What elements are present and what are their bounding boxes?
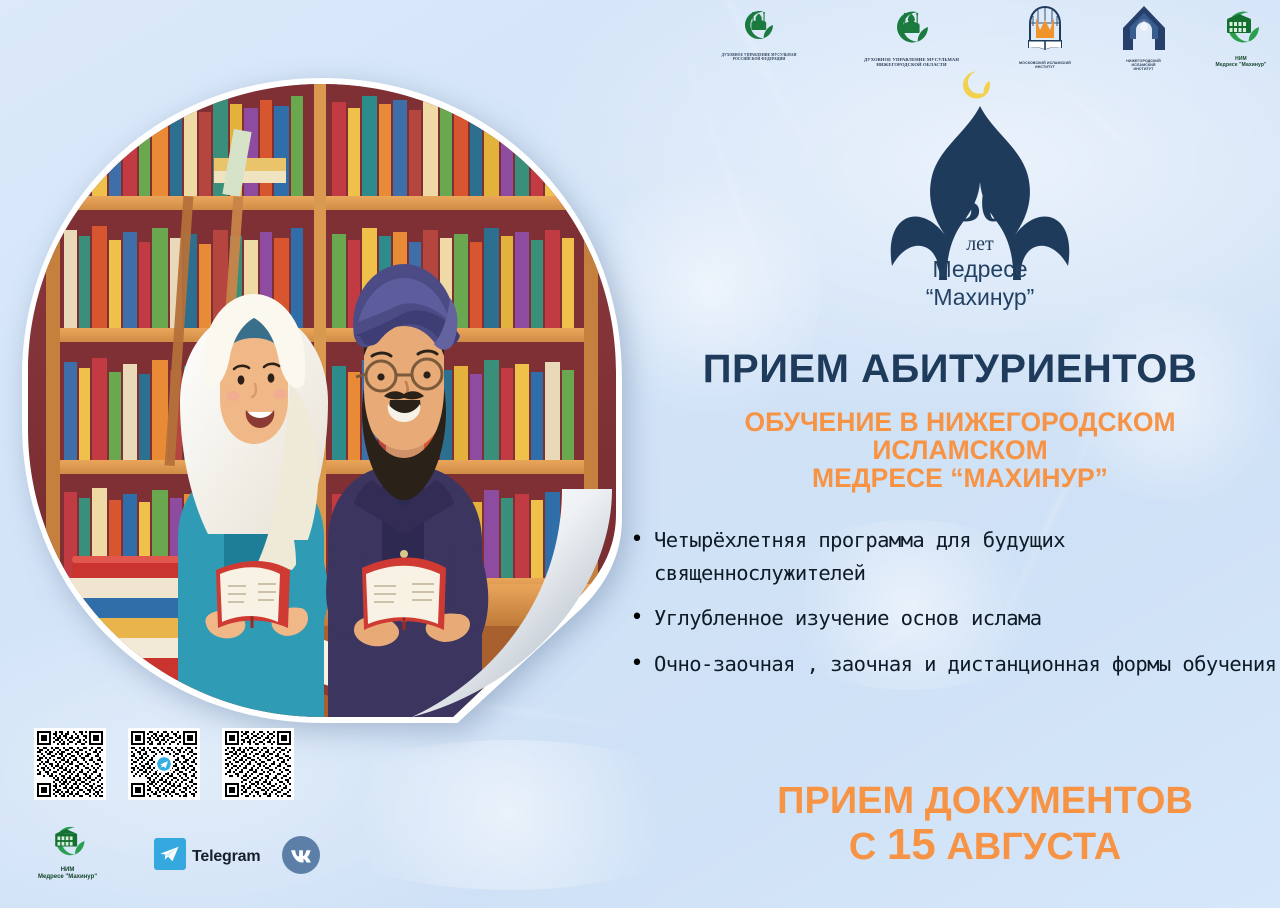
partner-logo-nii: НИЖЕГОРОДСКИЙ ИСЛАМСКИЙ ИНСТИТУТ (1108, 4, 1180, 71)
bullet-marker-icon: • (620, 602, 654, 634)
cta-prefix: С (849, 826, 887, 868)
partner-logo-caption: НИМ Медресе "Махинур" (1216, 57, 1267, 69)
open-book-dome-icon (1020, 4, 1070, 59)
caption-line: Медресе "Махинур" (1216, 63, 1267, 69)
partner-logo-dumrf: ДУХОВНОЕ УПРАВЛЕНИЕ МУСУЛЬМАН РОССИЙСКОЙ… (700, 4, 818, 61)
bullet-marker-icon: • (620, 524, 654, 556)
list-item-label: Очно-заочная , заочная и дистанционная ф… (654, 648, 1276, 681)
page-subtitle: ОБУЧЕНИЕ В НИЖЕГОРОДСКОМ ИСЛАМСКОМ МЕДРЕ… (660, 408, 1260, 492)
mosque-crescent-icon (739, 4, 779, 51)
anniversary-emblem: 30 лет Медресе “Махинур” (835, 70, 1125, 335)
social-link-mahinur[interactable]: НИМ Медресе "Махинур" (38, 820, 97, 881)
cta-suffix: АВГУСТА (936, 826, 1121, 868)
social-label-line-1: НИМ (38, 867, 97, 874)
subtitle-line-3: МЕДРЕСЕ “МАХИНУР” (660, 464, 1260, 492)
social-label-line-2: Медресе "Махинур" (38, 874, 97, 881)
list-item: • Очно-заочная , заочная и дистанционная… (620, 648, 1280, 681)
list-item: • Четырёхлетняя программа для будущих св… (620, 524, 1280, 590)
qr-code-vk[interactable] (222, 728, 294, 800)
partner-logo-caption: ДУХОВНОЕ УПРАВЛЕНИЕ МУСУЛЬМАН НИЖЕГОРОДС… (864, 57, 959, 68)
page-title: ПРИЕМ АБИТУРИЕНТОВ (640, 348, 1260, 390)
caption-line: ИНСТИТУТ (1126, 67, 1161, 71)
crescent-icon (959, 70, 993, 102)
mosque-crescent-icon (890, 4, 934, 55)
cta-day-number: 15 (887, 820, 936, 869)
social-label: Telegram (192, 848, 260, 866)
dome-shape (891, 106, 1070, 280)
cta-line-2: С 15 АВГУСТА (690, 822, 1280, 868)
madrasah-building-crescent-icon (1217, 4, 1265, 55)
bullet-marker-icon: • (620, 648, 654, 680)
qr-code-row (34, 728, 324, 810)
students-illustration (28, 84, 616, 717)
subtitle-line-1: ОБУЧЕНИЕ В НИЖЕГОРОДСКОМ (660, 408, 1260, 436)
cta-line-1: ПРИЕМ ДОКУМЕНТОВ (690, 782, 1280, 822)
caption-line: ИНСТИТУТ (1019, 65, 1071, 69)
telegram-icon (154, 838, 186, 875)
arch-building-icon (1119, 4, 1169, 57)
call-to-action: ПРИЕМ ДОКУМЕНТОВ С 15 АВГУСТА (690, 782, 1280, 867)
qr-code-site[interactable] (34, 728, 106, 800)
vk-icon (282, 836, 320, 879)
sticker-white-border (22, 78, 622, 723)
qr-code-telegram[interactable] (128, 728, 200, 800)
partner-logo-mii: МОСКОВСКИЙ ИСЛАМСКИЙ ИНСТИТУТ (1005, 4, 1085, 69)
list-item: • Углубленное изучение основ ислама (620, 602, 1280, 635)
partner-logo-caption: ДУХОВНОЕ УПРАВЛЕНИЕ МУСУЛЬМАН РОССИЙСКОЙ… (722, 53, 797, 61)
social-link-vk[interactable] (282, 836, 320, 879)
madrasah-building-crescent-icon (46, 820, 90, 867)
program-features-list: • Четырёхлетняя программа для будущих св… (620, 524, 1280, 693)
partner-logo-caption: НИЖЕГОРОДСКИЙ ИСЛАМСКИЙ ИНСТИТУТ (1126, 59, 1161, 71)
social-links-row: НИМ Медресе "Махинур" Telegram (34, 820, 334, 886)
partner-logo-nim-mahinur: НИМ Медресе "Махинур" (1202, 4, 1280, 69)
partner-logo-dumno: ДУХОВНОЕ УПРАВЛЕНИЕ МУСУЛЬМАН НИЖЕГОРОДС… (841, 4, 983, 68)
partner-logo-caption: МОСКОВСКИЙ ИСЛАМСКИЙ ИНСТИТУТ (1019, 61, 1071, 69)
list-item-label: Углубленное изучение основ ислама (654, 602, 1042, 635)
caption-line: НИЖЕГОРОДСКОЙ ОБЛАСТИ (864, 62, 959, 67)
background-highlight (300, 740, 720, 890)
subtitle-line-2: ИСЛАМСКОМ (660, 436, 1260, 464)
social-link-telegram[interactable]: Telegram (154, 838, 260, 875)
background-highlight (600, 140, 820, 440)
caption-line: РОССИЙСКОЙ ФЕДЕРАЦИИ (722, 57, 797, 61)
students-photo-sticker (22, 78, 622, 723)
list-item-label: Четырёхлетняя программа для будущих свящ… (654, 524, 1280, 590)
